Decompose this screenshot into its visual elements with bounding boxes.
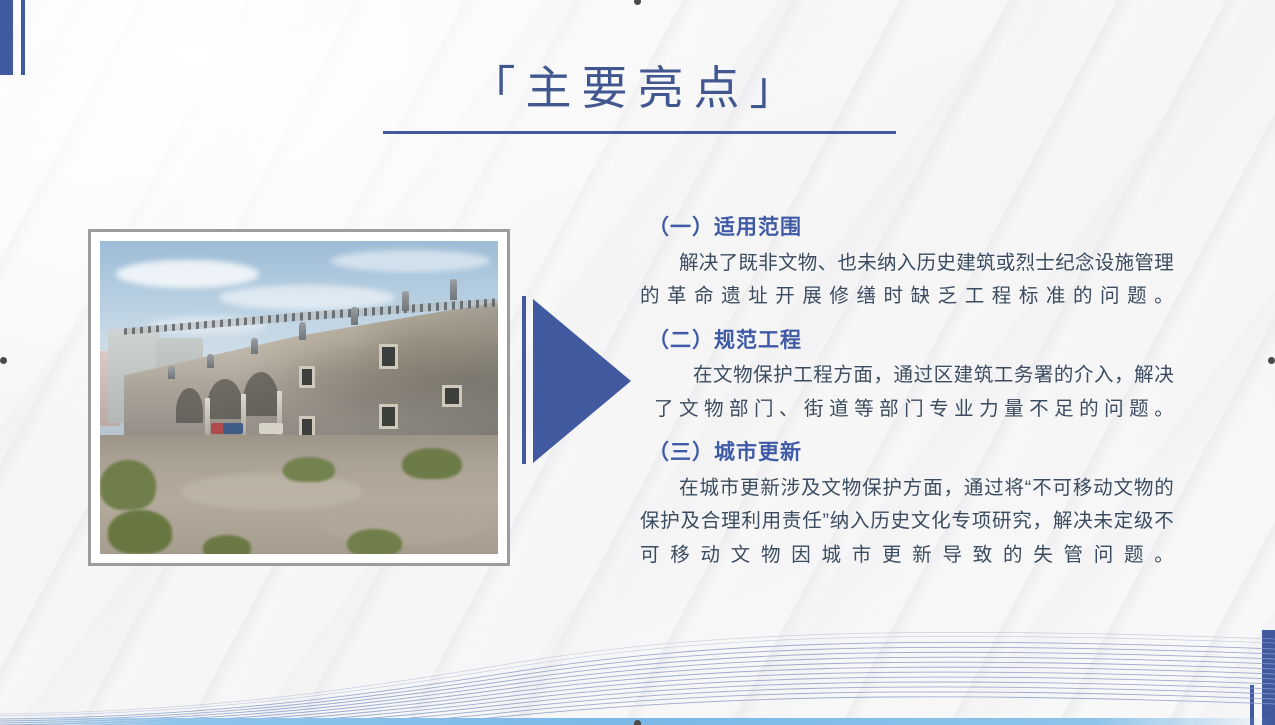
section-heading: （二）规范工程 [648, 325, 1174, 357]
section-urban-renewal: （三）城市更新 在城市更新涉及文物保护方面，通过将“不可移动文物的保护及合理利用… [640, 437, 1174, 572]
photo-parapet-post [351, 307, 358, 326]
section-standardized-engineering: （二）规范工程 在文物保护工程方面，通过区建筑工务署的介入，解决了文物部门、街道… [640, 325, 1174, 427]
edge-handle-left[interactable] [0, 357, 7, 364]
photo-grass [203, 535, 251, 554]
photo-parapet-post [251, 338, 258, 354]
section-heading: （一）适用范围 [648, 212, 1174, 244]
photo-parapet-post [299, 322, 306, 339]
page-title: 「主要亮点」 [0, 60, 1275, 118]
section-applicable-scope: （一）适用范围 解决了既非文物、也未纳入历史建筑或烈士纪念设施管理的革命遗址开展… [640, 212, 1174, 314]
photo-parapet-post [402, 291, 409, 311]
section-body: 在城市更新涉及文物保护方面，通过将“不可移动文物的保护及合理利用责任”纳入历史文… [640, 472, 1174, 573]
photo-parapet-post [207, 354, 214, 368]
heritage-building-photo [100, 241, 498, 554]
section-heading: （三）城市更新 [648, 437, 1174, 469]
photo-grass [347, 529, 403, 554]
photo-parapet-post [168, 366, 175, 379]
corner-bar-bottom-right-thick [1262, 630, 1275, 725]
photo-window [299, 366, 315, 388]
photo-grass [100, 460, 156, 510]
vertical-divider-line [522, 296, 526, 464]
photo-hanging-laundry [223, 423, 243, 434]
photo-window [379, 344, 399, 369]
edge-handle-top[interactable] [634, 0, 641, 5]
page-title-text: 「主要亮点」 [0, 60, 1275, 118]
content-column: （一）适用范围 解决了既非文物、也未纳入历史建筑或烈士纪念设施管理的革命遗址开展… [640, 212, 1174, 572]
title-underline-rule [383, 131, 896, 134]
photo-cloud [116, 260, 259, 288]
photo-parapet-post [450, 279, 457, 301]
photo-cloud [219, 285, 394, 310]
photo-window [379, 404, 399, 429]
photo-hanging-laundry [259, 423, 283, 434]
section-body: 在文物保护工程方面，通过区建筑工务署的介入，解决了文物部门、街道等部门专业力量不… [654, 359, 1174, 426]
photo-ground-patch [319, 504, 486, 545]
photo-window [442, 385, 462, 407]
photo-grass [108, 510, 172, 554]
edge-handle-right[interactable] [1268, 357, 1275, 364]
photo-grass [283, 457, 335, 482]
right-triangle-arrow-icon [533, 299, 631, 463]
photo-grass [402, 448, 462, 479]
edge-handle-bottom[interactable] [634, 720, 641, 725]
section-body: 解决了既非文物、也未纳入历史建筑或烈士纪念设施管理的革命遗址开展修缮时缺乏工程标… [640, 247, 1174, 314]
slide: 「主要亮点」 [0, 0, 1275, 725]
photo-ground-patch [180, 473, 363, 511]
bottom-wave-decoration [0, 615, 1275, 725]
photo-frame [88, 229, 510, 566]
